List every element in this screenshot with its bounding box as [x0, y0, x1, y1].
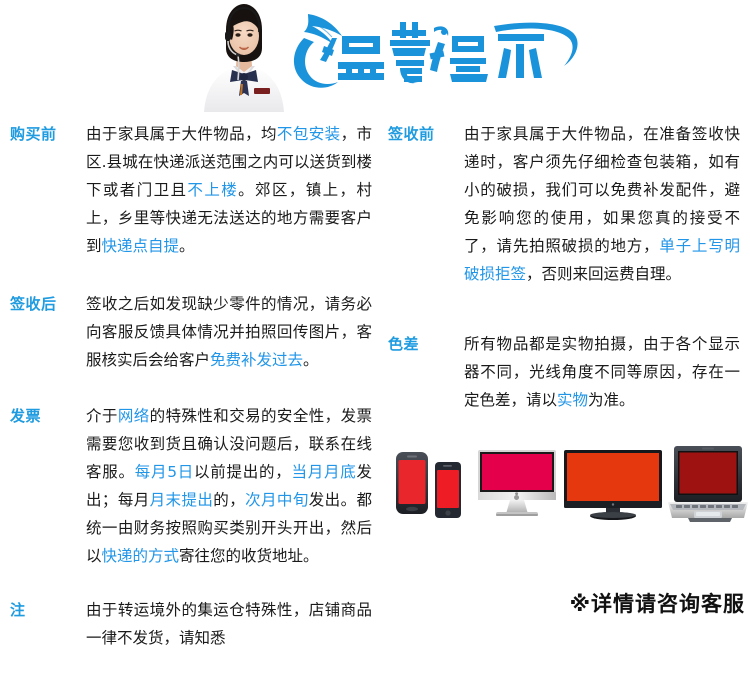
highlighted-text: 快递的方式	[102, 547, 180, 565]
body-text: 寄往您的收货地址。	[179, 547, 319, 565]
highlighted-text: 当月月底	[291, 463, 356, 481]
body-text: 。	[303, 351, 319, 369]
multi-device-display-lineup	[388, 438, 748, 538]
notice-section-before-signing: 签收前 由于家具属于大件物品，在准备签收快递时，客户须先仔细检查包装箱，如有小的…	[380, 120, 750, 288]
page-header	[0, 0, 750, 112]
highlighted-text: 实物	[557, 391, 588, 409]
body-text: 由于家具属于大件物品，在准备签收快递时，客户须先仔细检查包装箱，如有小的破损，我…	[464, 125, 740, 255]
body-text: 为准。	[588, 391, 635, 409]
body-text: 介于	[86, 407, 118, 425]
body-text: 以前提出的，	[194, 463, 291, 481]
notice-section-after-signing: 签收后 签收之后如发现缺少零件的情况，请务必向客服反馈具体情况并拍照回传图片，客…	[0, 290, 380, 374]
section-label: 购买前	[0, 120, 86, 148]
highlighted-text: 网络	[118, 407, 150, 425]
body-text: ，否则来回运费自理。	[526, 265, 681, 283]
body-text: 。	[179, 237, 195, 255]
section-label: 签收前	[380, 120, 464, 148]
notice-section-before-purchase: 购买前 由于家具属于大件物品，均不包安装，市区.县城在快递派送范围之内可以送货到…	[0, 120, 380, 260]
promo-notice-page: 购买前 由于家具属于大件物品，均不包安装，市区.县城在快递派送范围之内可以送货到…	[0, 0, 750, 699]
body-text: 由于家具属于大件物品，均	[86, 125, 277, 143]
notice-section-color-difference: 色差 所有物品都是实物拍摄，由于各个显示器不同，光线角度不同等原因，存在一定色差…	[380, 330, 750, 414]
highlighted-text: 不包安装	[277, 125, 341, 143]
promo-logo-wenxin-tishi	[288, 8, 588, 100]
footer-contact-note: ※详情请咨询客服	[0, 588, 750, 620]
highlighted-text: 每月5日	[135, 463, 194, 481]
customer-service-agent-photo	[196, 0, 292, 112]
highlighted-text: 月末提出	[150, 491, 214, 509]
section-label: 色差	[380, 330, 464, 358]
body-text: 的，	[213, 491, 245, 509]
section-label: 发票	[0, 402, 86, 430]
highlighted-text: 次月中旬	[245, 491, 309, 509]
highlighted-text: 不上楼	[187, 181, 238, 199]
notice-section-invoice: 发票 介于网络的特殊性和交易的安全性，发票需要您收到货且确认没问题后，联系在线客…	[0, 402, 380, 570]
highlighted-text: 免费补发过去	[210, 351, 303, 369]
highlighted-text: 快递点自提	[102, 237, 180, 255]
section-label: 签收后	[0, 290, 86, 318]
right-notice-column: 签收前 由于家具属于大件物品，在准备签收快递时，客户须先仔细检查包装箱，如有小的…	[380, 120, 750, 436]
section-body: 介于网络的特殊性和交易的安全性，发票需要您收到货且确认没问题后，联系在线客服。每…	[86, 402, 380, 570]
section-body: 由于家具属于大件物品，在准备签收快递时，客户须先仔细检查包装箱，如有小的破损，我…	[464, 120, 750, 288]
section-body: 签收之后如发现缺少零件的情况，请务必向客服反馈具体情况并拍照回传图片，客服核实后…	[86, 290, 380, 374]
section-body: 由于家具属于大件物品，均不包安装，市区.县城在快递派送范围之内可以送货到楼下或者…	[86, 120, 380, 260]
section-body: 所有物品都是实物拍摄，由于各个显示器不同，光线角度不同等原因，存在一定色差，请以…	[464, 330, 750, 414]
